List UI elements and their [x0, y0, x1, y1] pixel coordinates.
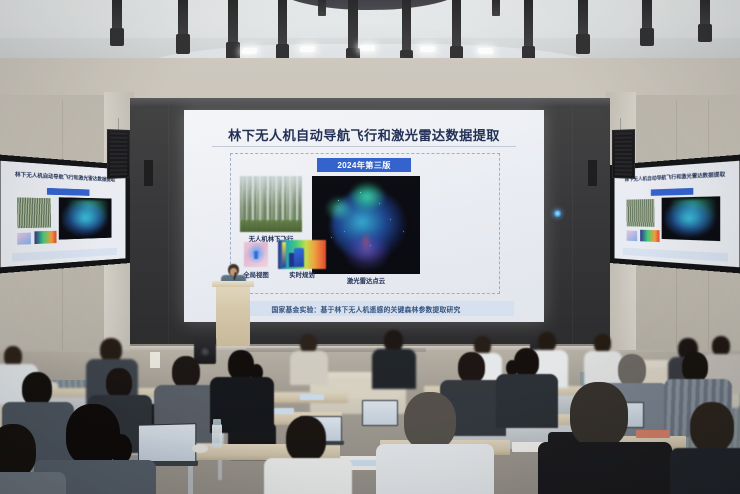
- floor-monitor-speaker-left: [194, 338, 216, 364]
- forest-photo: [240, 176, 302, 232]
- right-display-pointcloud: [662, 196, 721, 241]
- truss-light-head: [110, 28, 124, 46]
- left-display-thumb-live: [35, 231, 56, 245]
- slide-footer-text: 国家基金实验：基于林下无人机遥感的关键森林参数提取研究: [272, 304, 461, 314]
- right-display-footer: [623, 248, 728, 261]
- left-display-pointcloud: [59, 197, 112, 239]
- slide-footer-band: 国家基金实验：基于林下无人机遥感的关键森林参数提取研究: [218, 301, 514, 316]
- ceiling-light: [477, 48, 493, 54]
- left-display-forest: [17, 197, 51, 228]
- right-display-badge: [651, 188, 693, 196]
- truss-light: [318, 0, 326, 16]
- caption-pointcloud: 激光雷达点云: [312, 276, 420, 285]
- truss-light: [348, 0, 358, 54]
- laptop[interactable]: [138, 423, 196, 465]
- truss-light: [452, 0, 461, 52]
- left-display-thumb-global: [17, 232, 31, 245]
- right-display-forest: [626, 199, 654, 227]
- left-display-badge: [47, 188, 89, 196]
- realtime-view-thumbnail: [278, 240, 326, 269]
- slide-title: 林下无人机自动导航飞行和激光雷达数据提取: [184, 125, 544, 144]
- truss-light-head: [698, 24, 712, 42]
- right-display-thumb-live: [641, 230, 660, 243]
- right-display-thumb-global: [626, 230, 637, 241]
- podium: [216, 284, 250, 346]
- slide-title-rule: [212, 146, 516, 147]
- truss-light-head: [176, 34, 190, 54]
- global-view-thumbnail: [244, 242, 268, 267]
- ceiling-light: [241, 48, 257, 54]
- truss-light: [278, 0, 287, 50]
- backdrop-top-strip: [130, 98, 610, 107]
- ceiling-light: [300, 46, 316, 52]
- ceiling-light: [360, 45, 375, 51]
- backdrop-slat: [168, 107, 169, 346]
- wall-speaker-right: [612, 129, 635, 179]
- bottle-cap: [213, 419, 221, 425]
- truss-light-head: [640, 28, 654, 46]
- papers: [300, 394, 324, 400]
- truss-light: [524, 0, 533, 50]
- conference-hall-photo: 林下无人机自动导航飞行和激光雷达数据提取 2024年第三版 无人机林下飞行: [0, 0, 740, 494]
- podium-top: [212, 281, 254, 287]
- truss-light: [492, 0, 500, 16]
- pointcloud-canopy-green-2: [325, 196, 353, 221]
- wall-speaker-left: [107, 129, 130, 179]
- slide-version-badge: 2024年第三版: [317, 158, 411, 172]
- stage-pillar-marker: [150, 352, 160, 368]
- backdrop-slat: [572, 107, 573, 346]
- truss-light: [228, 0, 238, 48]
- truss-light-head: [576, 34, 590, 54]
- caption-realtime-view: 实时规划: [278, 270, 326, 279]
- truss-light: [402, 0, 411, 52]
- ceiling-light: [420, 46, 436, 52]
- lidar-pointcloud-image: [312, 176, 420, 274]
- notebook: [636, 430, 670, 438]
- backdrop-indicator-light: [553, 209, 562, 218]
- water-bottle: [212, 424, 222, 448]
- backdrop-vent: [588, 160, 597, 186]
- left-display-footer: [12, 248, 117, 261]
- backdrop-vent: [144, 160, 153, 186]
- laptop[interactable]: [362, 400, 398, 426]
- mouse[interactable]: [192, 444, 208, 453]
